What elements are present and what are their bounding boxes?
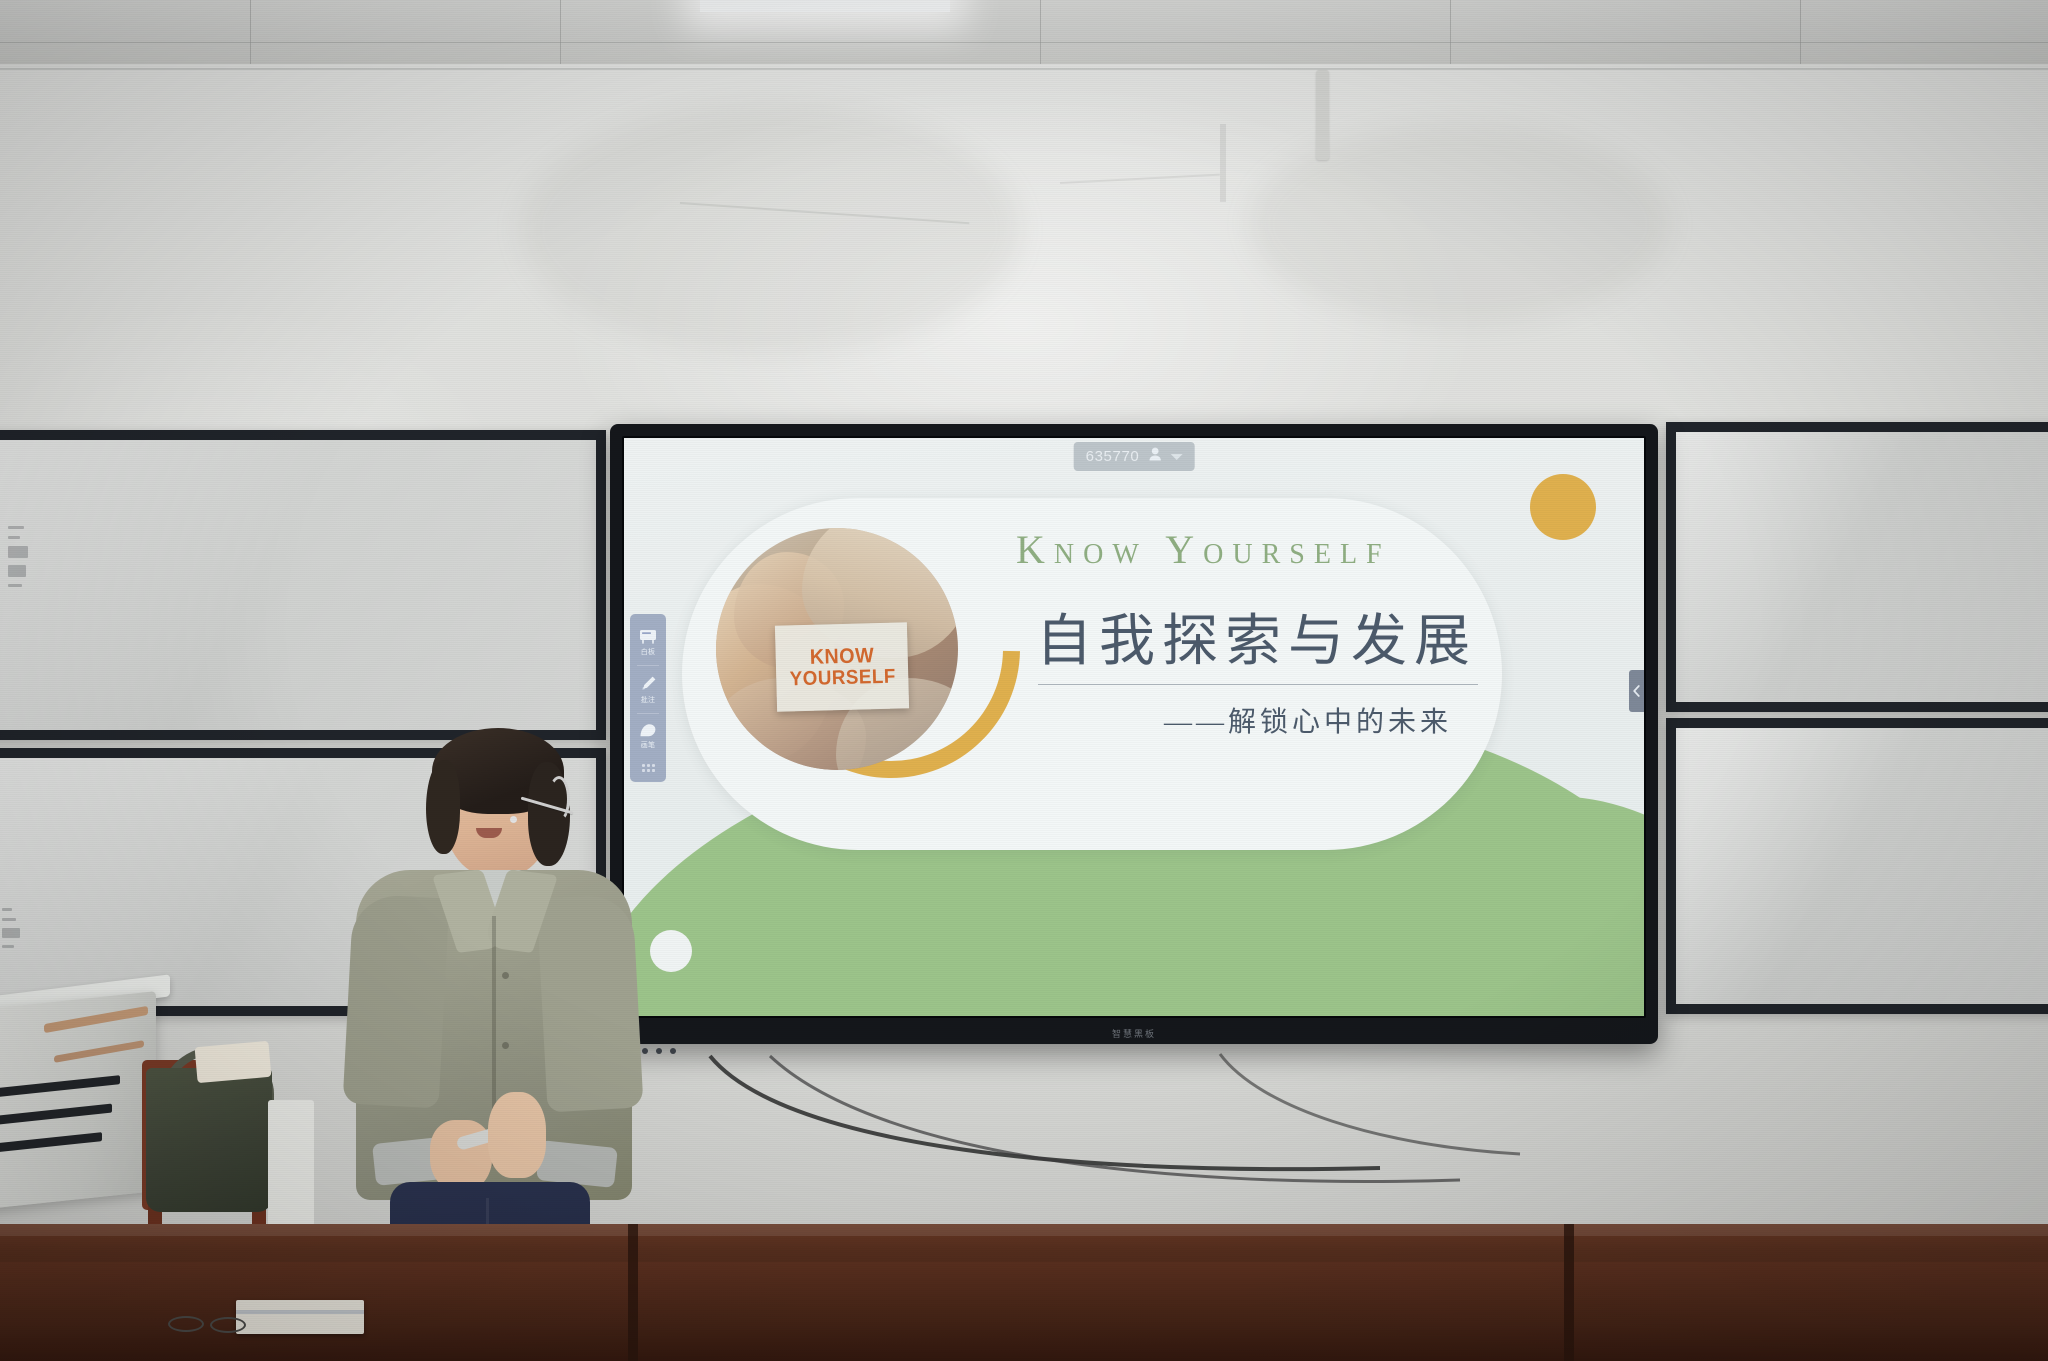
hand-photo-circle: KNOW YOURSELF [716, 528, 958, 770]
gold-circle-decor [1530, 474, 1596, 540]
slide-divider-rule [1038, 684, 1478, 685]
toolbar-label-whiteboard: 白板 [641, 647, 656, 657]
whiteboard-icon [639, 629, 657, 644]
ceiling [0, 0, 2048, 64]
white-box [268, 1100, 314, 1226]
display-screen[interactable]: KNOW YOURSELF Know Yourself 自我探索与发展 ——解锁… [624, 438, 1644, 1016]
meeting-code-badge[interactable]: 635770 [1074, 442, 1195, 471]
slide-chinese-title: 自我探索与发展 [1036, 596, 1477, 677]
bag-papers [195, 1041, 272, 1083]
brush-icon [639, 723, 658, 737]
whiteboard-left-upper [0, 430, 606, 740]
person-icon [1148, 447, 1161, 466]
ceiling-light-panel [700, 0, 950, 12]
toolbar-divider-2 [637, 713, 659, 714]
interactive-smart-display[interactable]: 智慧黑板 KNOW YOURSELF [610, 424, 1658, 1044]
presenter-right-hand [488, 1092, 546, 1178]
white-circle-decor [650, 930, 692, 972]
drag-dots-icon[interactable] [642, 764, 655, 772]
know-yourself-line1: KNOW [809, 645, 874, 669]
presentation-slide: KNOW YOURSELF Know Yourself 自我探索与发展 ——解锁… [624, 438, 1644, 1016]
display-brand-label: 智慧黑板 [610, 1027, 1658, 1040]
shoulder-bag [146, 1068, 272, 1212]
classroom-scene: 智慧黑板 KNOW YOURSELF [0, 0, 2048, 1361]
slide-chinese-subtitle: ——解锁心中的未来 [1164, 700, 1452, 740]
toolbar-divider [637, 665, 659, 666]
book [236, 1300, 364, 1334]
meeting-code-value: 635770 [1086, 448, 1140, 465]
know-yourself-card: KNOW YOURSELF [775, 622, 909, 711]
caret-down-icon[interactable] [1170, 454, 1182, 460]
toolbar-label-annotate: 批注 [641, 695, 656, 705]
chevron-left-icon [1633, 685, 1640, 697]
wall-conduit [1316, 70, 1329, 160]
whiteboard-right-upper [1666, 422, 2048, 712]
toolbar-item-annotate[interactable]: 批注 [630, 668, 666, 711]
toolbar-item-whiteboard[interactable]: 白板 [630, 622, 666, 663]
whiteboard-right-lower [1666, 718, 2048, 1014]
know-yourself-line2: YOURSELF [789, 666, 896, 690]
slide-english-title: Know Yourself [1016, 526, 1391, 573]
toolbar-label-brush: 画笔 [641, 740, 656, 750]
display-cables [620, 1050, 1660, 1240]
headset-microphone [548, 776, 570, 822]
eyeglasses [168, 1316, 246, 1330]
sidebar-collapse-tab[interactable] [1629, 670, 1644, 712]
pen-icon [640, 675, 657, 692]
